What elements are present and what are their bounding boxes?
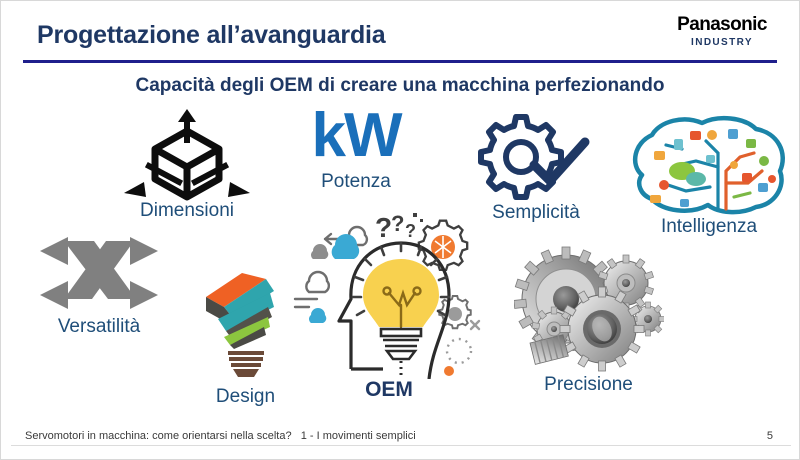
shuffle-arrows-icon [34,233,164,313]
footer-text: Servomotori in macchina: come orientarsi… [25,430,416,442]
feature-label: Versatilità [19,317,179,336]
feature-versatilita: Versatilità [19,233,179,336]
feature-label: OEM [289,379,489,400]
page-title: Progettazione all’avanguardia [37,21,385,50]
feature-label: Intelligenza [618,217,800,236]
footer-divider [11,445,791,446]
cube-axes-icon [122,109,252,201]
feature-oem: ? ? ? [289,203,489,400]
slide-subtitle: Capacità degli OEM di creare una macchin… [1,75,799,97]
feature-dimensioni: Dimensioni [107,109,267,220]
slide-canvas: Progettazione all’avanguardia Panasonic … [0,0,800,460]
feature-precisione: Precisione [506,243,671,394]
brand-name: Panasonic [663,15,781,34]
feature-potenza: kW Potenza [286,107,426,191]
feature-label: Potenza [286,172,426,191]
panasonic-logo: Panasonic INDUSTRY [663,15,781,48]
page-number: 5 [767,430,773,442]
feature-label: Dimensioni [107,201,267,220]
svg-text:?: ? [391,211,404,236]
title-divider [23,60,777,63]
feature-intelligenza: Intelligenza [618,113,800,236]
head-idea-bulb-icon: ? ? ? [291,203,487,379]
brand-division: INDUSTRY [663,38,781,48]
ribbon-bulb-icon [198,263,294,381]
svg-text:?: ? [375,212,392,243]
svg-text:?: ? [405,221,416,241]
metal-gears-icon [514,243,664,373]
gear-check-icon [472,109,600,201]
brain-network-icon [622,113,797,215]
kw-wordmark-icon: kW [286,107,426,166]
feature-label: Precisione [506,375,671,394]
